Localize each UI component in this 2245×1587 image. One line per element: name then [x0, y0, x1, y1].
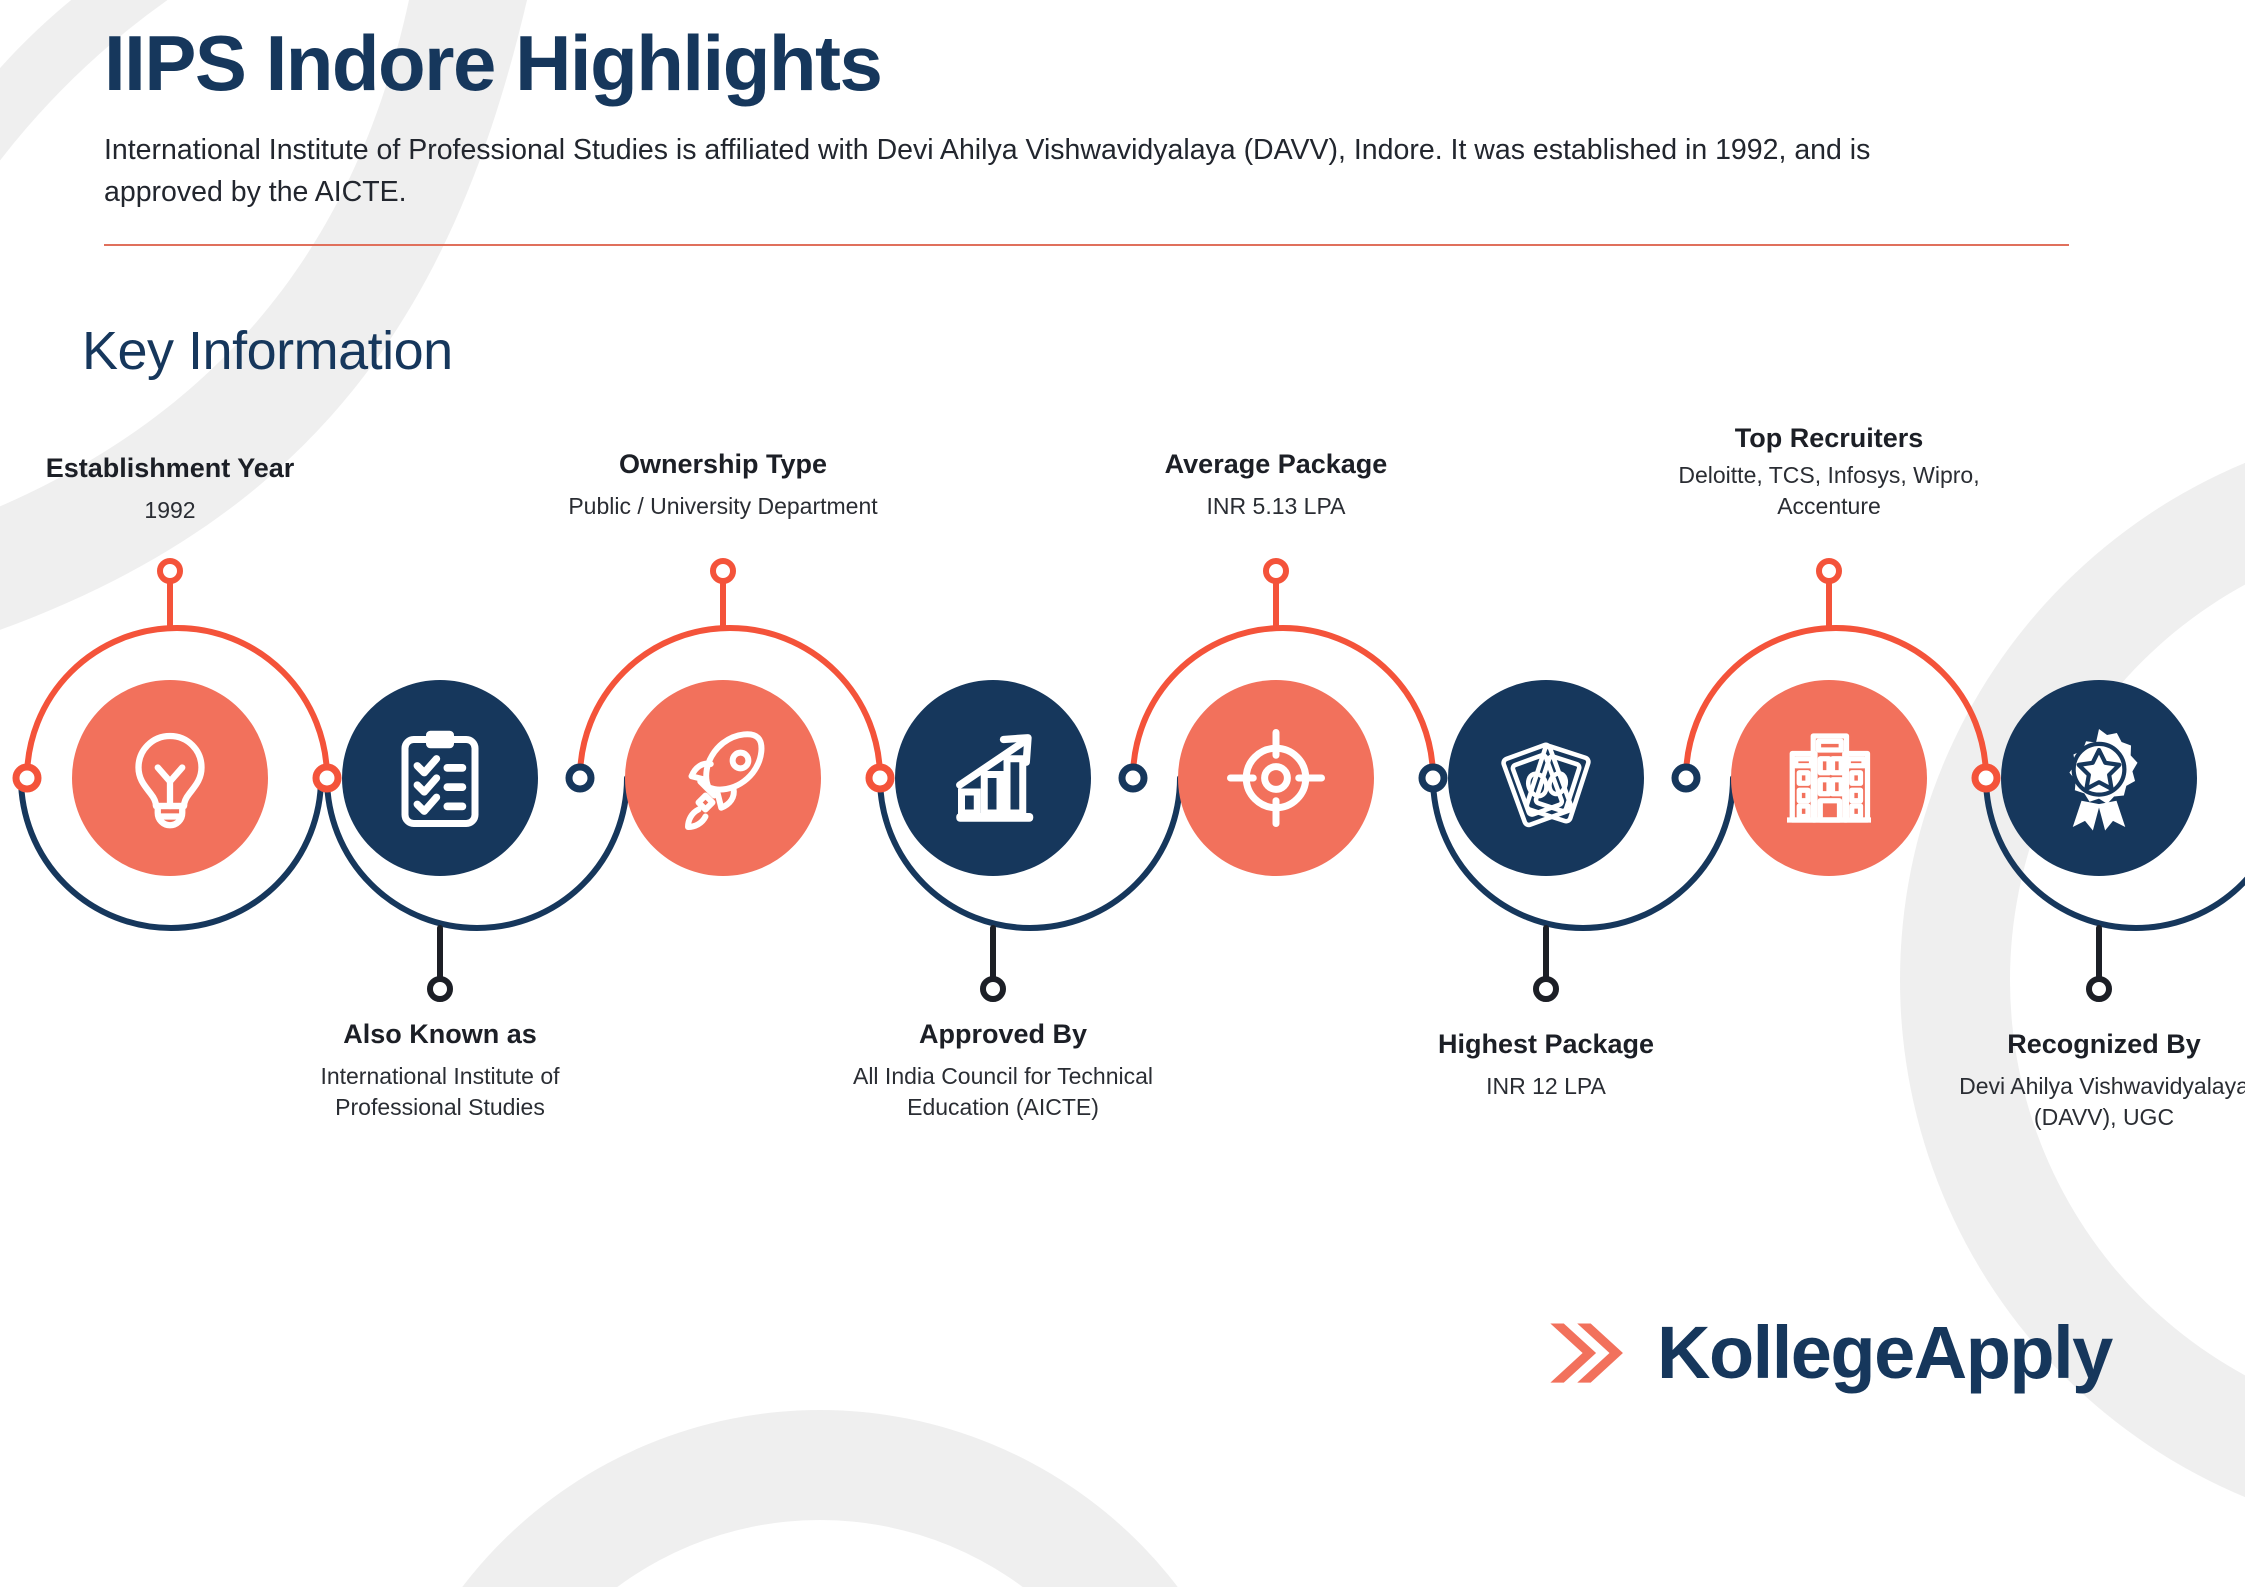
- label-title: Also Known as: [270, 1018, 610, 1050]
- label-title: Average Package: [1106, 448, 1446, 480]
- bar-chart-growth-icon: [937, 722, 1049, 834]
- label-approved-by: Approved By All India Council for Techni…: [823, 1018, 1183, 1123]
- stem-dot-down-4: [2089, 979, 2109, 999]
- node-ownership-type[interactable]: [625, 680, 821, 876]
- stem-dot-up-1: [160, 561, 180, 581]
- joint-dot-2: [569, 767, 591, 789]
- node-establishment-year[interactable]: [72, 680, 268, 876]
- label-average-package: Average Package INR 5.13 LPA: [1106, 448, 1446, 522]
- label-title: Recognized By: [1919, 1028, 2245, 1060]
- label-also-known-as: Also Known as International Institute of…: [270, 1018, 610, 1123]
- label-title: Ownership Type: [553, 448, 893, 480]
- label-value: Deloitte, TCS, Infosys, Wipro, Accenture: [1659, 460, 1999, 521]
- joint-dot-6: [1675, 767, 1697, 789]
- stem-dot-down-2: [983, 979, 1003, 999]
- label-highest-package: Highest Package INR 12 LPA: [1376, 1028, 1716, 1102]
- header: IIPS Indore Highlights International Ins…: [104, 18, 2094, 246]
- node-approved-by[interactable]: [895, 680, 1091, 876]
- label-value: International Institute of Professional …: [270, 1061, 610, 1122]
- page-subtitle: International Institute of Professional …: [104, 130, 1974, 213]
- stem-dot-down-3: [1536, 979, 1556, 999]
- label-top-recruiters: Top Recruiters Deloitte, TCS, Infosys, W…: [1659, 422, 1999, 522]
- node-also-known-as[interactable]: [342, 680, 538, 876]
- joint-dot-7: [1975, 767, 1997, 789]
- label-value: INR 5.13 LPA: [1106, 491, 1446, 522]
- brand-name: KollegeApply: [1657, 1316, 2112, 1390]
- header-divider: [104, 244, 2069, 246]
- lightbulb-icon: [114, 722, 226, 834]
- label-ownership-type: Ownership Type Public / University Depar…: [553, 448, 893, 522]
- stem-dot-down-1: [430, 979, 450, 999]
- label-establishment-year: Establishment Year 1992: [0, 452, 340, 526]
- label-value: 1992: [0, 495, 340, 526]
- section-title: Key Information: [82, 320, 453, 382]
- money-notes-icon: [1490, 722, 1602, 834]
- target-icon: [1220, 722, 1332, 834]
- node-recognized-by[interactable]: [2001, 680, 2197, 876]
- node-average-package[interactable]: [1178, 680, 1374, 876]
- node-highest-package[interactable]: [1448, 680, 1644, 876]
- label-value: Public / University Department: [553, 491, 893, 522]
- label-recognized-by: Recognized By Devi Ahilya Vishwavidyalay…: [1919, 1028, 2245, 1133]
- joint-dot-0: [16, 767, 38, 789]
- double-chevron-icon: [1545, 1310, 1631, 1396]
- kollegeapply-logo[interactable]: KollegeApply: [1545, 1310, 2112, 1396]
- node-top-recruiters[interactable]: [1731, 680, 1927, 876]
- infographic-page: IIPS Indore Highlights International Ins…: [0, 0, 2245, 1587]
- label-title: Top Recruiters: [1659, 422, 1999, 454]
- stem-dot-up-2: [713, 561, 733, 581]
- label-value: Devi Ahilya Vishwavidyalaya (DAVV), UGC: [1919, 1071, 2245, 1132]
- label-value: All India Council for Technical Educatio…: [823, 1061, 1183, 1122]
- joint-dot-5: [1422, 767, 1444, 789]
- joint-dot-1: [316, 767, 338, 789]
- building-icon: [1773, 722, 1885, 834]
- joint-dot-4: [1122, 767, 1144, 789]
- page-title: IIPS Indore Highlights: [104, 18, 2094, 108]
- award-badge-icon: [2043, 722, 2155, 834]
- stem-dot-up-3: [1266, 561, 1286, 581]
- rocket-icon: [667, 722, 779, 834]
- label-title: Establishment Year: [0, 452, 340, 484]
- stem-dot-up-4: [1819, 561, 1839, 581]
- label-title: Highest Package: [1376, 1028, 1716, 1060]
- clipboard-checklist-icon: [384, 722, 496, 834]
- joint-dot-3: [869, 767, 891, 789]
- label-title: Approved By: [823, 1018, 1183, 1050]
- label-value: INR 12 LPA: [1376, 1071, 1716, 1102]
